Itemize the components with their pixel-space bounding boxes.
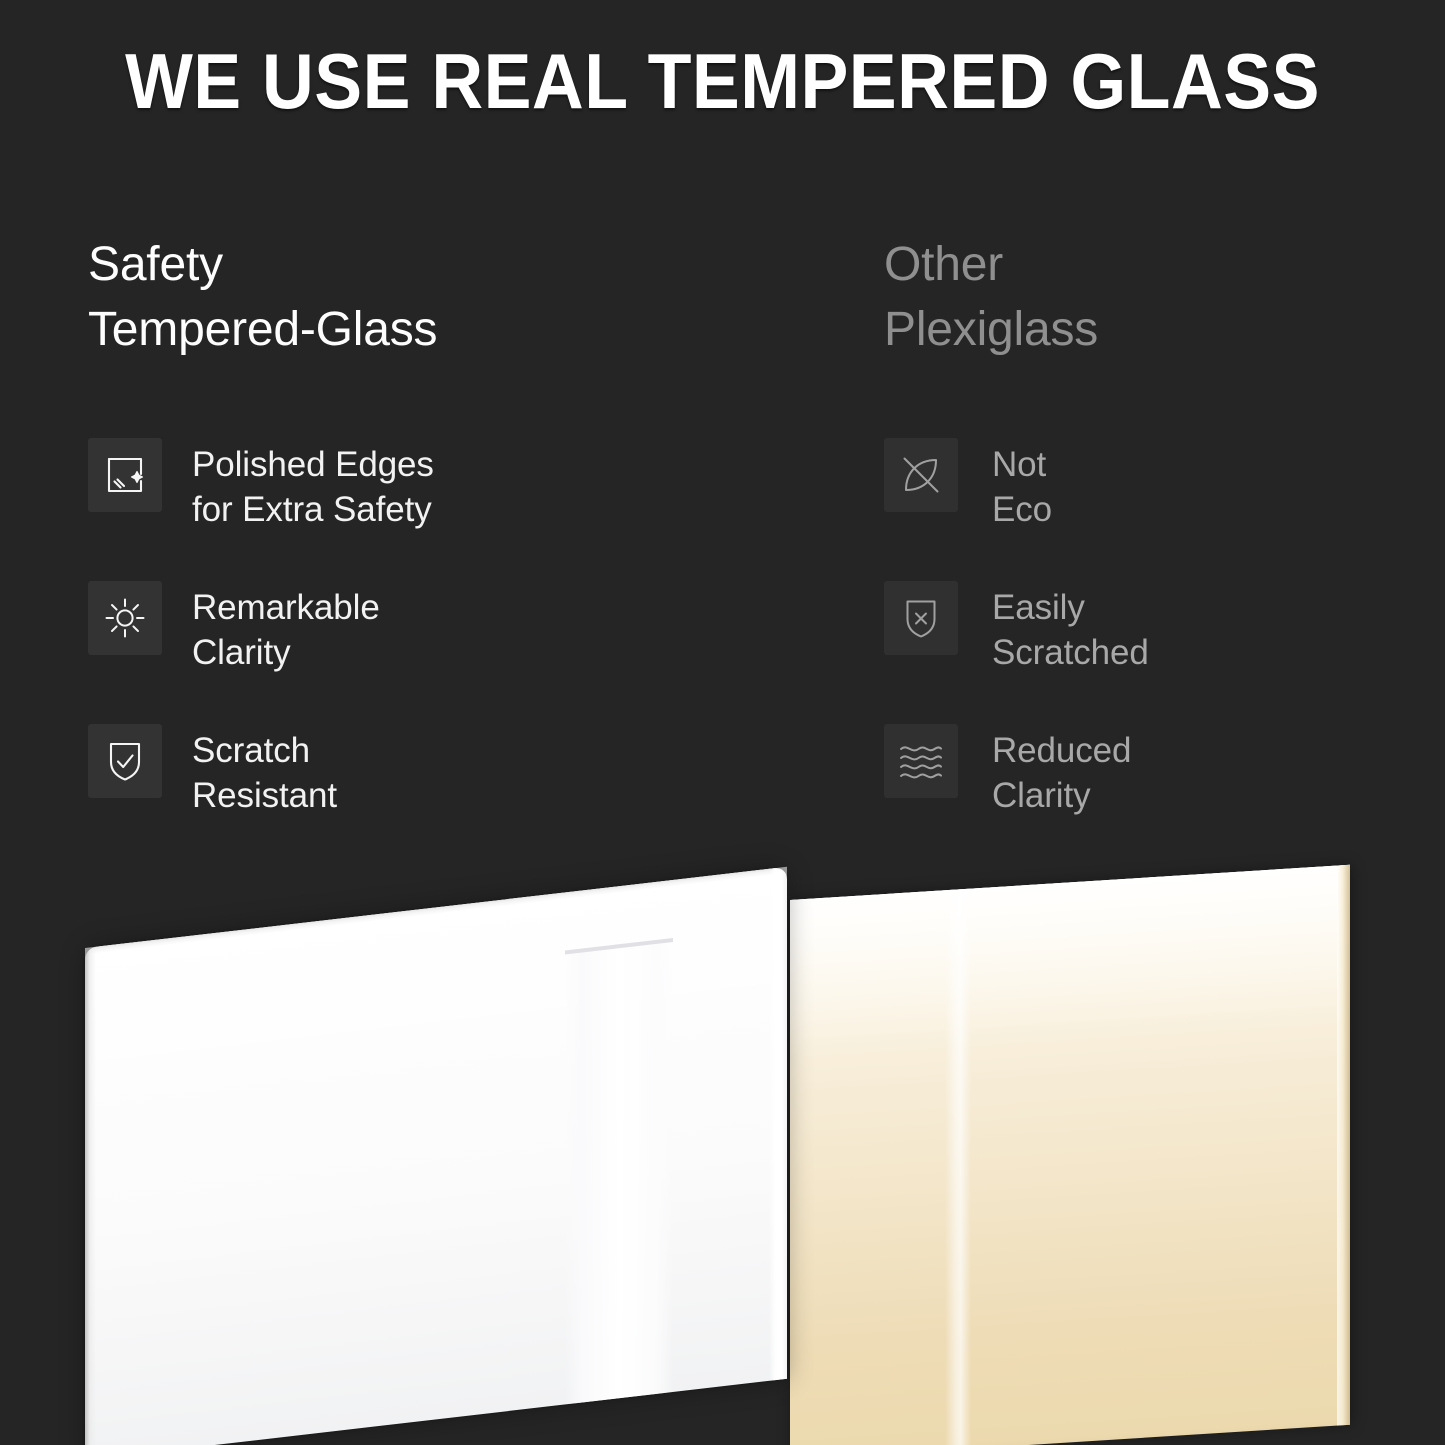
leaf-slashed-icon — [900, 454, 942, 496]
feature-label: Reduced Clarity — [992, 723, 1131, 818]
feature-remarkable-clarity: Remarkable Clarity — [88, 580, 828, 723]
feature-label: Easily Scratched — [992, 580, 1149, 675]
tempered-glass-reflection — [565, 938, 673, 1404]
icon-tile — [88, 724, 162, 798]
shield-check-icon — [105, 739, 145, 783]
feature-label: Remarkable Clarity — [192, 580, 380, 675]
page-title: WE USE REAL TEMPERED GLASS — [58, 42, 1387, 120]
feature-label: Polished Edges for Extra Safety — [192, 437, 434, 532]
feature-not-eco: Not Eco — [884, 437, 1424, 580]
feature-label: Scratch Resistant — [192, 723, 337, 818]
shield-x-icon — [902, 597, 940, 640]
column-plexiglass: Other Plexiglass Not Eco — [884, 232, 1424, 363]
feature-list-plexiglass: Not Eco Easily Scratched — [884, 437, 1424, 866]
feature-label: Not Eco — [992, 437, 1052, 532]
column-tempered-glass: Safety Tempered-Glass — [88, 232, 828, 363]
icon-tile — [884, 724, 958, 798]
plexiglass-reflection — [945, 889, 971, 1445]
polished-glass-pane-icon — [104, 454, 146, 496]
column-title-plexiglass: Other Plexiglass — [884, 232, 1424, 363]
feature-easily-scratched: Easily Scratched — [884, 580, 1424, 723]
tempered-glass-top-glow — [85, 867, 787, 1158]
icon-tile — [88, 438, 162, 512]
feature-list-tempered-glass: Polished Edges for Extra Safety — [88, 437, 828, 866]
comparison-infographic: WE USE REAL TEMPERED GLASS Safety Temper… — [0, 0, 1445, 1445]
column-title-tempered-glass: Safety Tempered-Glass — [88, 232, 828, 363]
icon-tile — [884, 438, 958, 512]
feature-polished-edges: Polished Edges for Extra Safety — [88, 437, 828, 580]
tempered-glass-panel — [85, 867, 787, 1445]
plexiglass-top-glow — [790, 865, 1350, 1060]
plexiglass-panel — [790, 865, 1350, 1445]
wavy-lines-icon — [898, 741, 944, 781]
comparison-columns: Safety Tempered-Glass — [0, 232, 1445, 852]
tempered-glass-right-bevel — [769, 867, 787, 1381]
icon-tile — [884, 581, 958, 655]
glass-panels-illustration — [0, 830, 1445, 1445]
icon-tile — [88, 581, 162, 655]
sun-clarity-icon — [103, 596, 147, 640]
